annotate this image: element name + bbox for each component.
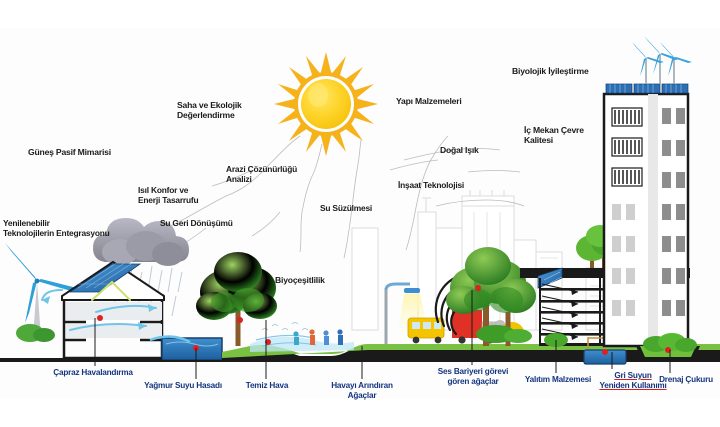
label-dogal-isik: Doğal Işık [440, 145, 479, 155]
label-havayi-arindiran-agaclar: Havayı Arındıran Ağaçlar [320, 381, 404, 400]
tower-building [604, 36, 692, 346]
label-ses-bariyeri-agaclar: Ses Bariyeri görevi gören ağaçlar [425, 367, 521, 386]
label-drenaj-cukuru: Drenaj Çukuru [650, 375, 720, 385]
label-yenilenebilir-teknolojiler: Yenilenebilir Teknolojilerin Entegrasyon… [3, 219, 110, 239]
label-isil-konfor: Isıl Konfor ve Enerji Tasarrufu [138, 186, 198, 206]
label-arazi-cozunurlugu: Arazi Çözünürlüğü Analizi [226, 165, 297, 185]
solar-panel-icon [606, 84, 688, 93]
label-saha-ekolojik: Saha ve Ekolojik Değerlendirme [177, 100, 242, 120]
label-biyocesitlilik: Biyoçeşitlilik [275, 275, 325, 285]
label-capraz-havalandirma: Çapraz Havalandırma [38, 368, 148, 378]
tree-clean-air [196, 252, 277, 346]
label-temiz-hava: Temiz Hava [237, 381, 297, 391]
label-yagmur-suyu-hasadi: Yağmur Suyu Hasadı [133, 381, 233, 391]
hotspot-marker [97, 315, 103, 321]
sun-icon [274, 52, 378, 156]
label-su-geri-donusumu: Su Geri Dönüşümü [160, 219, 233, 229]
infographic-canvas: Güneş Pasif MimarisiYenilenebilir Teknol… [0, 0, 720, 427]
label-insaat-teknolojisi: İnşaat Teknolojisi [398, 181, 464, 191]
passive-solar-house [42, 262, 164, 358]
birds-flock [262, 323, 308, 331]
label-biyolojik-iyilestirme: Biyolojik İyileştirme [512, 66, 589, 76]
greywater-tank [584, 349, 626, 364]
label-ic-mekan-cevre: İç Mekan Çevre Kalitesi [524, 125, 584, 145]
tower-louvers [612, 108, 642, 186]
label-su-suzulmesi: Su Süzülmesi [320, 204, 372, 214]
label-yapi-malzemeleri: Yapı Malzemeleri [396, 96, 462, 106]
label-gunes-pasif-mimarisi: Güneş Pasif Mimarisi [28, 147, 111, 157]
